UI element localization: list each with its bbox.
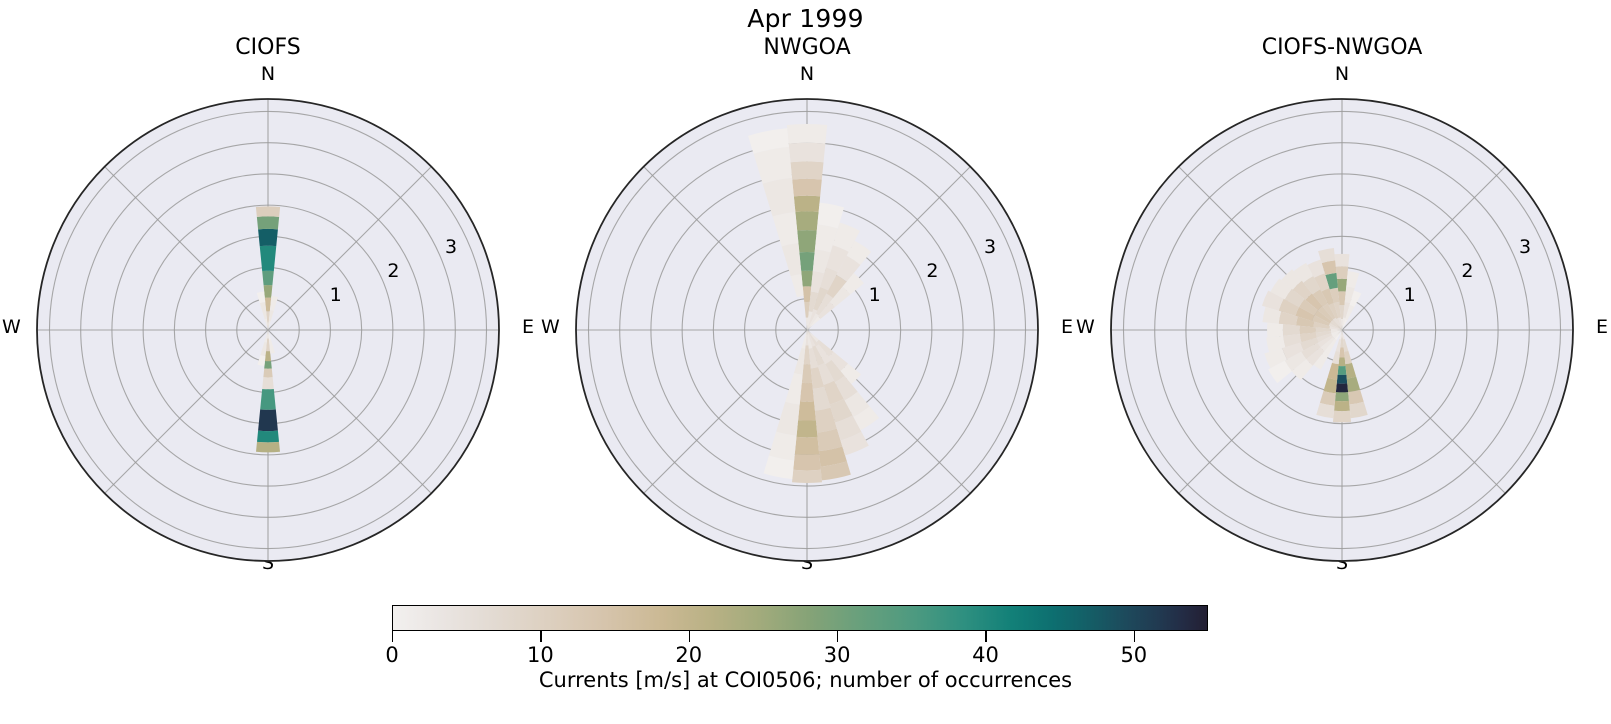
- compass-label-e: E: [1596, 316, 1608, 338]
- polar-plot-svg: [35, 97, 501, 563]
- colorbar-tick-mark: [1134, 631, 1135, 642]
- colorbar-tick-label: 10: [527, 643, 554, 667]
- polar-axes[interactable]: 123: [1109, 97, 1575, 563]
- compass-label-n: N: [1082, 63, 1602, 85]
- colorbar-tick-label: 0: [385, 643, 398, 667]
- compass-label-w: W: [541, 316, 560, 338]
- polar-axes[interactable]: 123: [35, 97, 501, 563]
- colorbar-tick-mark: [689, 631, 690, 642]
- colorbar-tick-mark: [540, 631, 541, 642]
- polar-plot-svg: [574, 97, 1040, 563]
- compass-label-e: E: [1061, 316, 1073, 338]
- colorbar-label: Currents [m/s] at COI0506; number of occ…: [0, 668, 1611, 692]
- radial-tick-label: 2: [387, 260, 399, 282]
- polar-plot-svg: [1109, 97, 1575, 563]
- panel-title: CIOFS: [8, 35, 528, 60]
- polar-axes[interactable]: 123: [574, 97, 1040, 563]
- colorbar[interactable]: 01020304050: [392, 605, 1208, 631]
- colorbar-tick-label: 20: [675, 643, 702, 667]
- panel-title: CIOFS-NWGOA: [1082, 35, 1602, 60]
- radial-tick-label: 3: [984, 236, 996, 258]
- colorbar-tick-mark: [392, 631, 393, 642]
- radial-tick-label: 2: [1461, 260, 1473, 282]
- compass-label-w: W: [1076, 316, 1095, 338]
- compass-label-w: W: [2, 316, 21, 338]
- compass-label-e: E: [522, 316, 534, 338]
- radial-tick-label: 1: [330, 284, 342, 306]
- polar-panel-nwgoa: NWGOA N S W E 123: [547, 75, 1067, 575]
- polar-panel-ciofs-nwgoa: CIOFS-NWGOA N S W E 123: [1082, 75, 1602, 575]
- colorbar-tick-label: 40: [972, 643, 999, 667]
- colorbar-tick-label: 30: [824, 643, 851, 667]
- compass-label-n: N: [547, 63, 1067, 85]
- colorbar-gradient: [392, 605, 1208, 631]
- figure-canvas: Apr 1999 CIOFS N S W E 123 NWGOA N S W E…: [0, 0, 1611, 724]
- colorbar-tick-label: 50: [1120, 643, 1147, 667]
- radial-tick-label: 1: [869, 284, 881, 306]
- colorbar-tick-mark: [985, 631, 986, 642]
- panel-title: NWGOA: [547, 35, 1067, 60]
- radial-tick-label: 1: [1404, 284, 1416, 306]
- radial-tick-label: 3: [445, 236, 457, 258]
- compass-label-n: N: [8, 63, 528, 85]
- polar-panel-ciofs: CIOFS N S W E 123: [8, 75, 528, 575]
- colorbar-tick-mark: [837, 631, 838, 642]
- figure-suptitle: Apr 1999: [0, 4, 1611, 33]
- radial-tick-label: 2: [926, 260, 938, 282]
- radial-tick-label: 3: [1519, 236, 1531, 258]
